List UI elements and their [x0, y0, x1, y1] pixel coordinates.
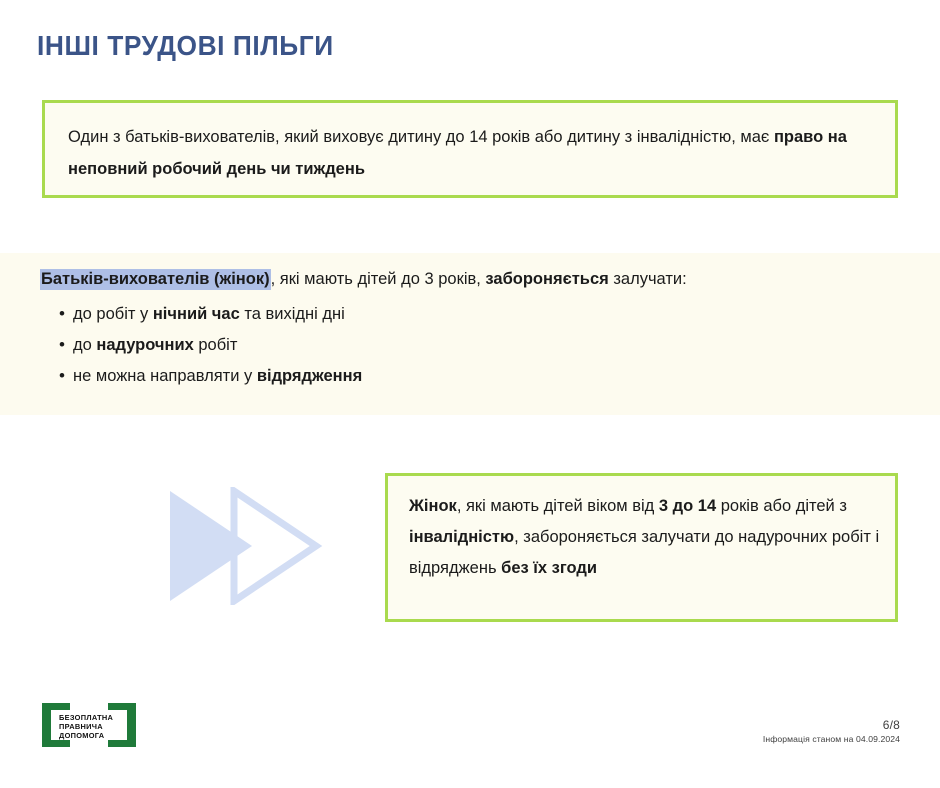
logo-line-3: ДОПОМОГА [59, 731, 105, 740]
logo-line-2: ПРАВНИЧА [59, 722, 103, 731]
list-item: до надурочних робіт [40, 330, 700, 361]
callout-top-text: Один з батьків-вихователів, який виховує… [68, 121, 874, 185]
restrictions-bullet-list: до робіт у нічний час та вихідні дні до … [40, 299, 700, 392]
restrictions-list-section: Батьків-вихователів (жінок), які мають д… [40, 264, 700, 392]
callout-bottom-text: Жінок, які мають дітей віком від 3 до 14… [409, 491, 883, 584]
list-lead-text: Батьків-вихователів (жінок), які мають д… [40, 264, 700, 295]
legal-aid-logo: БЕЗОПЛАТНА ПРАВНИЧА ДОПОМОГА [40, 701, 138, 749]
page-title: ІНШІ ТРУДОВІ ПІЛЬГИ [37, 29, 334, 63]
callout-box-top: Один з батьків-вихователів, який виховує… [42, 100, 898, 198]
last-updated-note: Інформація станом на 04.09.2024 [763, 733, 900, 746]
page-number: 6/8 [763, 718, 900, 733]
list-item: до робіт у нічний час та вихідні дні [40, 299, 700, 330]
callout-box-bottom: Жінок, які мають дітей віком від 3 до 14… [385, 473, 898, 622]
list-item: не можна направляти у відрядження [40, 361, 700, 392]
footer-meta: 6/8 Інформація станом на 04.09.2024 [763, 718, 900, 746]
double-arrow-icon [168, 487, 350, 605]
logo-line-1: БЕЗОПЛАТНА [59, 713, 114, 722]
slide-root: ІНШІ ТРУДОВІ ПІЛЬГИ Один з батьків-вихов… [0, 0, 940, 788]
